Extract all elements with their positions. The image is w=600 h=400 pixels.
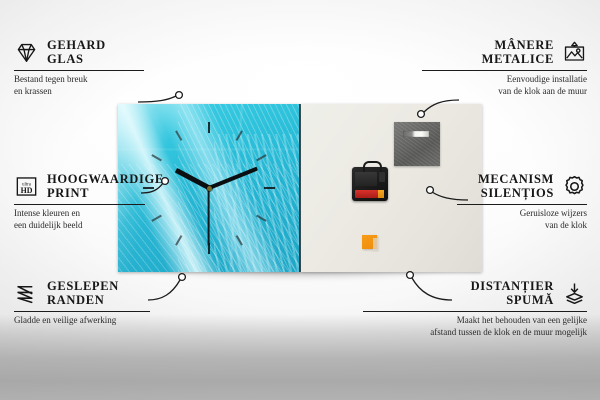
callout-description: Gladde en veilige afwerking xyxy=(14,315,150,327)
callout-gehard-glas[interactable]: GEHARD GLAS Bestand tegen breuk en krass… xyxy=(14,38,144,97)
callout-description: Geruisloze wijzers van de klok xyxy=(457,208,587,231)
callout-manere-metalice[interactable]: MÂNERE METALICE Eenvoudige installatie v… xyxy=(422,38,587,97)
infographic-canvas: GEHARD GLAS Bestand tegen breuk en krass… xyxy=(0,0,600,400)
product-image xyxy=(118,104,482,272)
callout-rule xyxy=(14,204,145,205)
movement-body xyxy=(355,172,377,186)
callout-head: MÂNERE METALICE xyxy=(422,38,587,66)
callout-title: DISTANȚIER SPUMĂ xyxy=(471,279,554,307)
callout-title: GESLEPEN RANDEN xyxy=(47,279,119,307)
callout-head: GEHARD GLAS xyxy=(14,38,144,66)
callout-distantier-spuma[interactable]: DISTANȚIER SPUMĂ Maakt het behouden van … xyxy=(363,279,587,338)
metal-hanger-plate xyxy=(394,122,440,166)
clock-back-panel xyxy=(301,104,482,272)
hanger-keyhole-slot xyxy=(403,131,429,137)
callout-rule xyxy=(363,311,587,312)
ultra-hd-icon: ultra HD xyxy=(14,174,39,199)
clock-tick xyxy=(209,187,275,189)
callout-title: GEHARD GLAS xyxy=(47,38,106,66)
callout-rule xyxy=(14,70,144,71)
callout-hoogwaardige-print[interactable]: ultra HD HOOGWAARDIGE PRINT Intense kleu… xyxy=(14,172,145,231)
spacer-press-icon xyxy=(562,281,587,306)
callout-rule xyxy=(457,204,587,205)
gear-icon xyxy=(562,174,587,199)
callout-title: HOOGWAARDIGE PRINT xyxy=(47,172,164,200)
callout-description: Maakt het behouden van een gelijke afsta… xyxy=(363,315,587,338)
clock-movement xyxy=(352,167,388,201)
hanger-metal-grain xyxy=(394,122,440,166)
beveled-edges-icon xyxy=(14,281,39,306)
callout-rule xyxy=(14,311,150,312)
callout-description: Intense kleuren en een duidelijk beeld xyxy=(14,208,145,231)
callout-description: Bestand tegen breuk en krassen xyxy=(14,74,144,97)
clock-center-pin xyxy=(207,186,212,191)
svg-text:HD: HD xyxy=(21,185,33,194)
callout-geslepen-randen[interactable]: GESLEPEN RANDEN Gladde en veilige afwerk… xyxy=(14,279,150,327)
callout-description: Eenvoudige installatie van de klok aan d… xyxy=(422,74,587,97)
foam-spacer xyxy=(362,235,377,249)
movement-shaft xyxy=(379,172,385,182)
battery xyxy=(355,190,383,198)
callout-head: GESLEPEN RANDEN xyxy=(14,279,150,307)
callout-head: DISTANȚIER SPUMĂ xyxy=(363,279,587,307)
callout-title: MÂNERE METALICE xyxy=(482,38,554,66)
clock-second-hand xyxy=(208,188,210,246)
callout-mecanism-silentios[interactable]: MECANISM SILENȚIOS Geruisloze wijzers va… xyxy=(457,172,587,231)
hanging-picture-frame-icon xyxy=(562,40,587,65)
diamond-icon xyxy=(14,40,39,65)
movement-hanging-loop xyxy=(363,161,382,172)
callout-head: MECANISM SILENȚIOS xyxy=(457,172,587,200)
callout-rule xyxy=(422,70,587,71)
callout-head: ultra HD HOOGWAARDIGE PRINT xyxy=(14,172,145,200)
callout-title: MECANISM SILENȚIOS xyxy=(478,172,554,200)
clock-tick xyxy=(208,122,210,188)
